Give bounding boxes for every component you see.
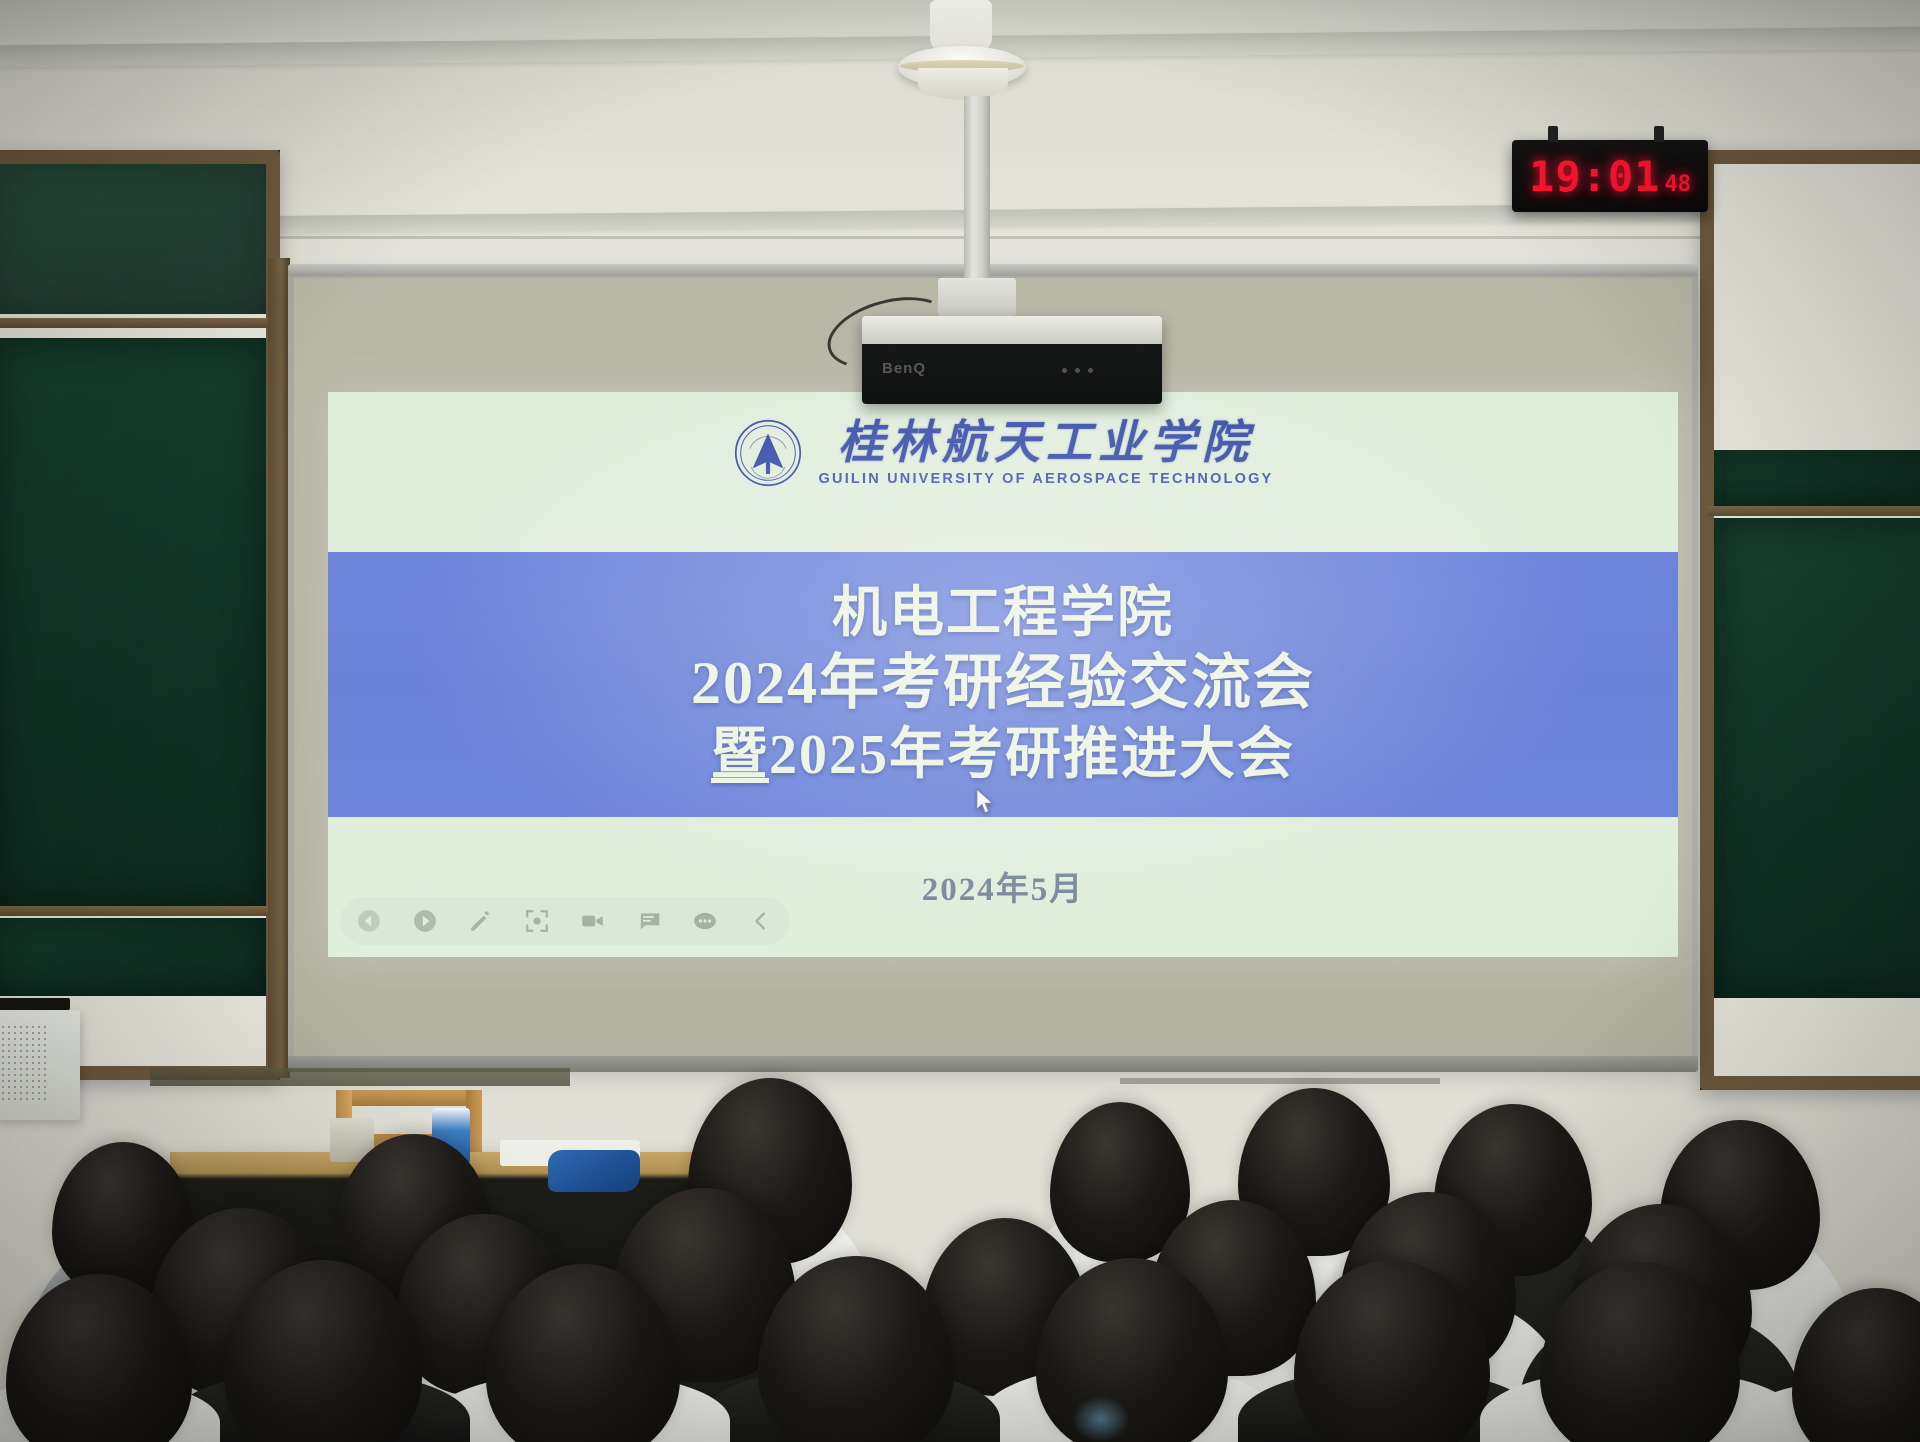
clock-seconds: 48: [1664, 172, 1691, 197]
powerpoint-presenter-toolbar[interactable]: [340, 897, 790, 945]
projected-slide[interactable]: 桂林航天工业学院 GUILIN UNIVERSITY OF AEROSPACE …: [328, 392, 1678, 957]
speaker-grille: [0, 1024, 46, 1100]
projector-mount-bracket: [938, 278, 1016, 316]
blue-cloth: [548, 1150, 640, 1192]
chair-back-top: [336, 1090, 482, 1106]
pencil-icon[interactable]: [466, 906, 496, 936]
blue-water-bottle: [432, 1108, 470, 1164]
institution-name-en: GUILIN UNIVERSITY OF AEROSPACE TECHNOLOG…: [819, 471, 1274, 487]
left-blackboard-lower-rail: [0, 906, 270, 916]
left-blackboard-upper-panel: [0, 164, 266, 314]
podium-desk: [170, 1152, 730, 1302]
slide-logo: 桂林航天工业学院 GUILIN UNIVERSITY OF AEROSPACE …: [328, 418, 1678, 488]
clock-hours-minutes: 19:01: [1529, 152, 1660, 201]
previous-circle-icon[interactable]: [354, 906, 384, 936]
projector-mount-pole: [964, 96, 990, 282]
right-blackboard-divider-rail: [1708, 506, 1920, 516]
wall-seam-line: [0, 236, 1920, 239]
slide-title-line-2: 2024年考研经验交流会: [691, 649, 1315, 719]
slide-title-line-3: 暨2025年考研推进大会: [711, 723, 1295, 788]
slide-title-group: 机电工程学院 2024年考研经验交流会 暨2025年考研推进大会: [328, 552, 1678, 817]
right-blackboard-main-panel: [1714, 518, 1920, 998]
ceiling-fan-bowl: [918, 68, 1008, 100]
right-blackboard: [1700, 150, 1920, 1090]
guat-crest-emblem: [733, 418, 803, 488]
mouse-pointer: [975, 788, 997, 816]
slide-title-line-3-underlined: 暨: [711, 724, 769, 786]
projector-top-plate: [862, 316, 1162, 344]
slide-title-line-3-rest: 2025年考研推进大会: [769, 724, 1295, 786]
institution-name-cn: 桂林航天工业学院: [838, 420, 1254, 466]
spotlight-focus-icon[interactable]: [522, 906, 552, 936]
video-camera-icon[interactable]: [578, 906, 608, 936]
chevron-left-icon[interactable]: [746, 906, 776, 936]
ellipsis-circle-icon[interactable]: [690, 906, 720, 936]
slide-title-line-1: 机电工程学院: [832, 581, 1174, 645]
projector-brand-label: BenQ: [882, 360, 926, 377]
clock-display: 19:01 48: [1529, 152, 1691, 201]
ceiling-projector: BenQ: [862, 316, 1162, 404]
small-water-bottle: [1782, 1254, 1808, 1306]
classroom-photo-scene: 桂林航天工业学院 GUILIN UNIVERSITY OF AEROSPACE …: [0, 0, 1920, 1442]
play-circle-icon[interactable]: [410, 906, 440, 936]
clock-bracket-right: [1654, 126, 1664, 142]
left-blackboard-main-panel: [0, 338, 266, 908]
ceiling-fan-cap: [930, 0, 992, 52]
wall-speaker-unit: [0, 1010, 80, 1120]
wall-chalk-trim: [150, 1068, 570, 1086]
clock-bracket-left: [1548, 126, 1558, 142]
speaker-top-vent: [0, 998, 70, 1010]
wall-trim-right: [1120, 1078, 1440, 1084]
left-blackboard-divider-rail: [0, 318, 270, 328]
whiteboard-left-post: [268, 258, 290, 1078]
left-blackboard-lower-panel: [0, 918, 266, 996]
left-blackboard: [0, 150, 280, 1080]
right-blackboard-upper-panel: [1714, 450, 1920, 506]
slide-title-band: 机电工程学院 2024年考研经验交流会 暨2025年考研推进大会: [328, 552, 1678, 817]
slide-logo-text: 桂林航天工业学院 GUILIN UNIVERSITY OF AEROSPACE …: [819, 420, 1274, 487]
tissue-box: [330, 1118, 374, 1162]
caption-bubble-icon[interactable]: [634, 906, 664, 936]
whiteboard-top-rail: [288, 264, 1698, 276]
wall-digital-clock: 19:01 48: [1512, 140, 1708, 212]
projector-status-leds: [1062, 368, 1093, 373]
